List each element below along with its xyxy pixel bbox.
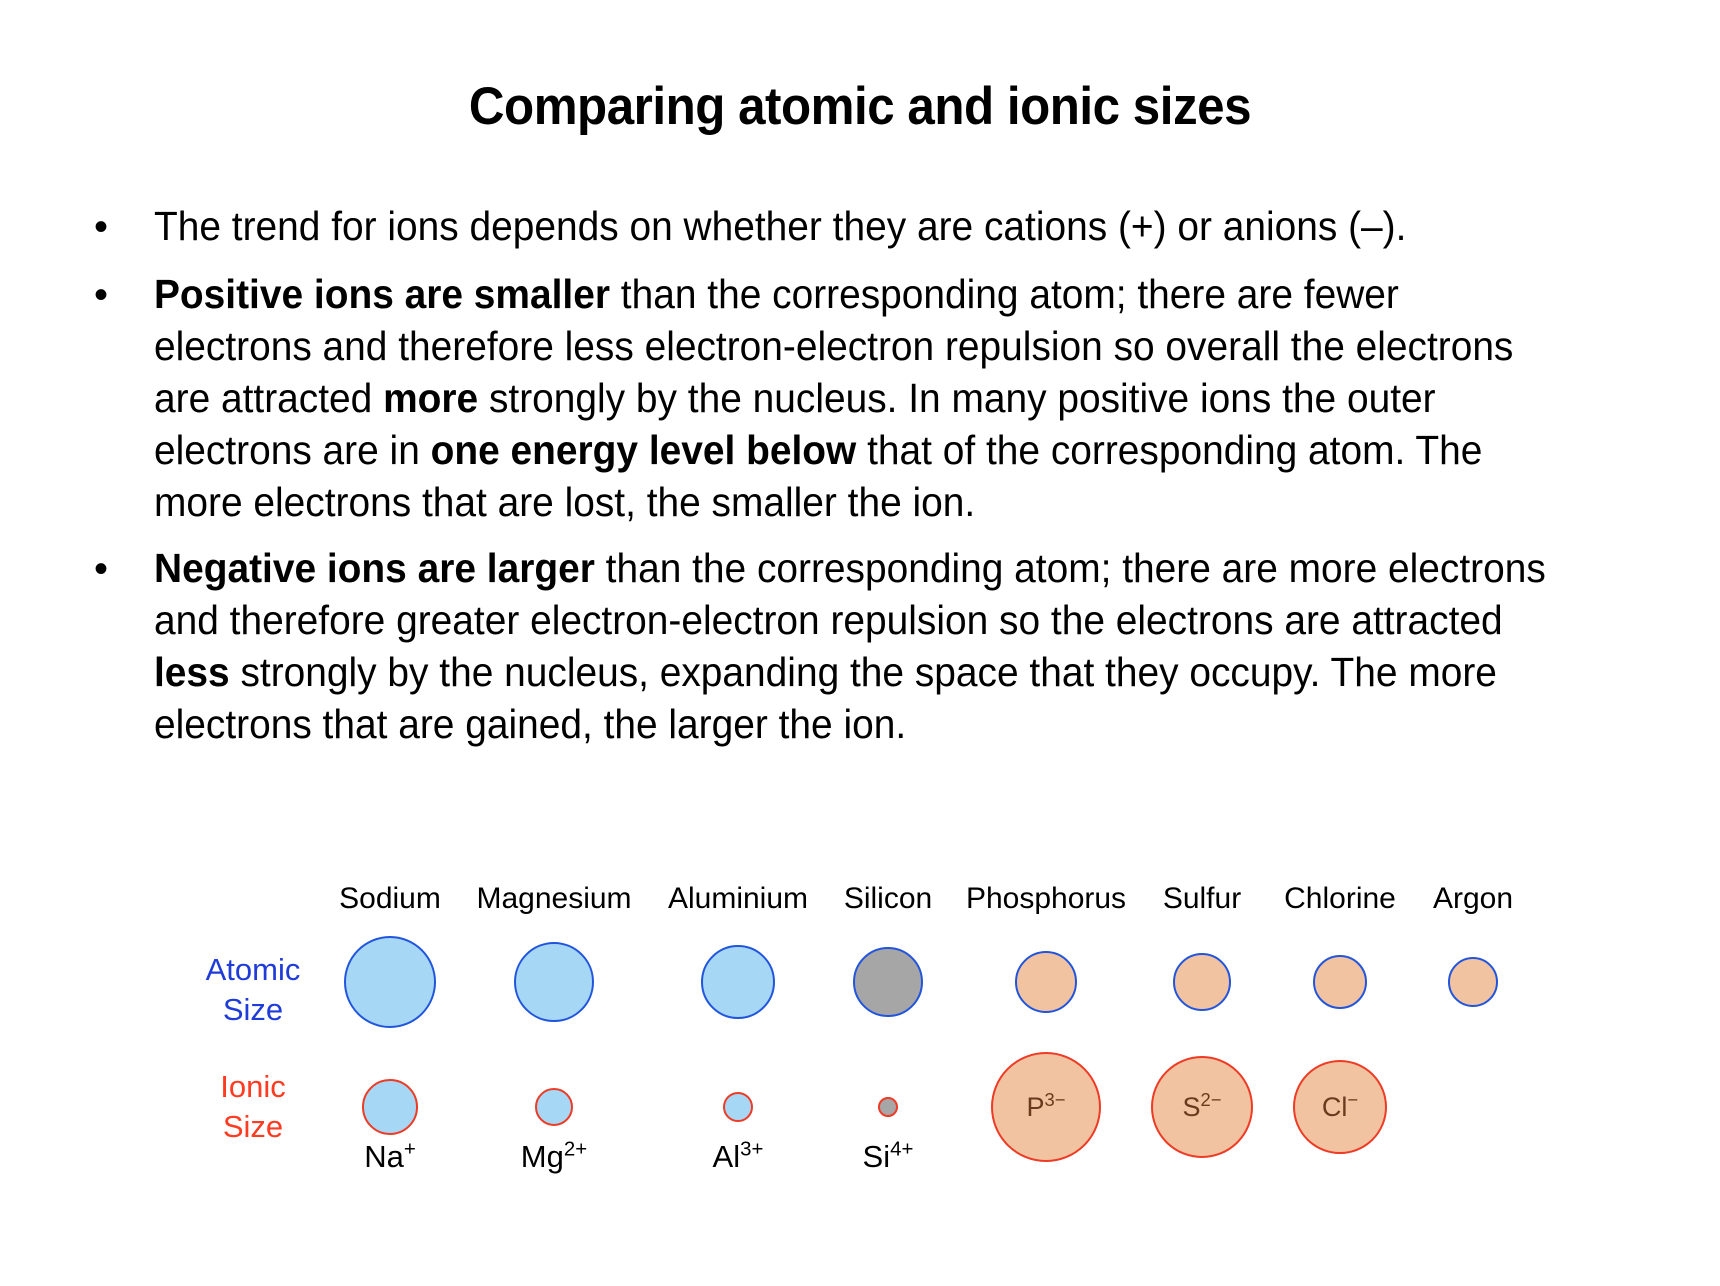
ion-inner-label: S2− bbox=[1183, 1094, 1222, 1121]
ion-circle-magnesium bbox=[535, 1088, 573, 1126]
bullet-text-segment: The trend for ions depends on whether th… bbox=[154, 203, 1406, 249]
bullet-text-emphasis: more bbox=[383, 375, 478, 421]
bullet-item: •Negative ions are larger than the corre… bbox=[88, 542, 1608, 750]
bullet-text: Negative ions are larger than the corres… bbox=[154, 542, 1550, 750]
ion-caption-charge: 2+ bbox=[564, 1138, 587, 1161]
bullet-text-segment: strongly by the nucleus, expanding the s… bbox=[154, 649, 1497, 747]
ion-caption-base: Na bbox=[364, 1139, 404, 1174]
bullet-text-emphasis: less bbox=[154, 649, 230, 695]
atom-circle-chlorine bbox=[1313, 955, 1367, 1009]
row-label-atomic-size: AtomicSize bbox=[206, 950, 301, 1030]
atomic-ionic-size-diagram: AtomicSize IonicSize SodiumNa+MagnesiumM… bbox=[0, 862, 1720, 1192]
ion-caption-charge: 3+ bbox=[740, 1138, 763, 1161]
row-label-ionic-size: IonicSize bbox=[220, 1067, 285, 1147]
ion-caption-sodium: Na+ bbox=[364, 1140, 416, 1174]
bullet-text-emphasis: one energy level below bbox=[431, 427, 857, 473]
atom-circle-aluminium bbox=[701, 945, 775, 1019]
column-header-sulfur: Sulfur bbox=[1163, 882, 1241, 916]
ion-caption-base: Si bbox=[863, 1139, 891, 1174]
column-header-argon: Argon bbox=[1433, 882, 1513, 916]
ion-inner-label: P3− bbox=[1027, 1094, 1066, 1121]
ion-circle-sodium bbox=[362, 1079, 418, 1135]
ion-caption-base: Mg bbox=[521, 1139, 564, 1174]
column-header-phosphorus: Phosphorus bbox=[966, 882, 1126, 916]
atom-circle-argon bbox=[1448, 957, 1498, 1007]
ion-inner-label-base: S bbox=[1183, 1092, 1201, 1122]
ion-caption-magnesium: Mg2+ bbox=[521, 1140, 587, 1174]
bullet-text: Positive ions are smaller than the corre… bbox=[154, 268, 1550, 528]
ion-caption-silicon: Si4+ bbox=[863, 1140, 914, 1174]
ion-inner-label-charge: − bbox=[1347, 1089, 1358, 1110]
bullet-item: •The trend for ions depends on whether t… bbox=[88, 200, 1608, 254]
column-header-chlorine: Chlorine bbox=[1284, 882, 1396, 916]
ion-caption-charge: 4+ bbox=[890, 1138, 913, 1161]
ion-caption-aluminium: Al3+ bbox=[713, 1140, 764, 1174]
atom-circle-sulfur bbox=[1173, 953, 1231, 1011]
ion-circle-phosphorus: P3− bbox=[991, 1052, 1101, 1162]
ion-inner-label: Cl− bbox=[1322, 1094, 1358, 1121]
column-header-sodium: Sodium bbox=[339, 882, 441, 916]
ion-circle-chlorine: Cl− bbox=[1293, 1060, 1387, 1154]
slide-canvas: Comparing atomic and ionic sizes •The tr… bbox=[0, 0, 1720, 1286]
ion-circle-silicon bbox=[878, 1097, 898, 1117]
bullet-text-emphasis: Negative ions are larger bbox=[154, 545, 595, 591]
bullet-marker-icon: • bbox=[88, 268, 154, 322]
atom-circle-silicon bbox=[853, 947, 923, 1017]
ion-caption-charge: + bbox=[404, 1138, 416, 1161]
ion-caption-base: Al bbox=[713, 1139, 741, 1174]
ion-inner-label-charge: 3− bbox=[1045, 1089, 1066, 1110]
bullet-marker-icon: • bbox=[88, 200, 154, 254]
ion-inner-label-base: P bbox=[1027, 1092, 1045, 1122]
row-label-ionic-line1: Ionic bbox=[220, 1067, 285, 1107]
bullet-marker-icon: • bbox=[88, 542, 154, 596]
atom-circle-sodium bbox=[344, 936, 436, 1028]
row-label-ionic-line2: Size bbox=[220, 1107, 285, 1147]
bullet-text: The trend for ions depends on whether th… bbox=[154, 200, 1550, 252]
bullet-text-emphasis: Positive ions are smaller bbox=[154, 271, 610, 317]
page-title: Comparing atomic and ionic sizes bbox=[60, 78, 1660, 136]
bullet-item: •Positive ions are smaller than the corr… bbox=[88, 268, 1608, 528]
column-header-aluminium: Aluminium bbox=[668, 882, 808, 916]
row-label-atomic-line2: Size bbox=[206, 990, 301, 1030]
ion-circle-sulfur: S2− bbox=[1151, 1056, 1253, 1158]
ion-inner-label-charge: 2− bbox=[1201, 1089, 1222, 1110]
row-label-atomic-line1: Atomic bbox=[206, 950, 301, 990]
column-header-silicon: Silicon bbox=[844, 882, 932, 916]
atom-circle-phosphorus bbox=[1015, 951, 1077, 1013]
ion-inner-label-base: Cl bbox=[1322, 1092, 1348, 1122]
ion-circle-aluminium bbox=[723, 1092, 753, 1122]
column-header-magnesium: Magnesium bbox=[476, 882, 631, 916]
atom-circle-magnesium bbox=[514, 942, 594, 1022]
bullet-list: •The trend for ions depends on whether t… bbox=[88, 200, 1608, 764]
